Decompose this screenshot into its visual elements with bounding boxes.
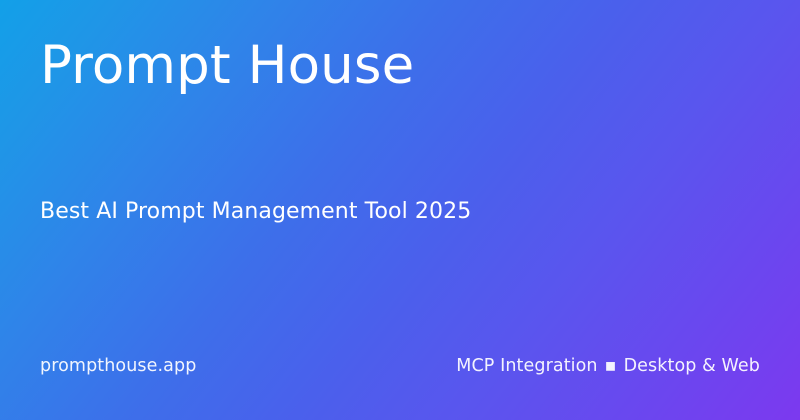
page-title: Prompt House bbox=[40, 38, 414, 94]
footer-feature-platforms: Desktop & Web bbox=[624, 355, 760, 378]
footer-website-url: prompthouse.app bbox=[40, 355, 196, 378]
page-subtitle: Best AI Prompt Management Tool 2025 bbox=[40, 198, 471, 226]
footer-features: MCP Integration ▪ Desktop & Web bbox=[456, 355, 760, 378]
promo-banner: Prompt House Best AI Prompt Management T… bbox=[0, 0, 800, 420]
footer-feature-mcp-integration: MCP Integration bbox=[456, 355, 597, 378]
title-row: Prompt House bbox=[40, 30, 760, 102]
bullet-separator-icon: ▪ bbox=[598, 355, 624, 378]
banner-footer: prompthouse.app MCP Integration ▪ Deskto… bbox=[40, 355, 760, 378]
subtitle-row: Best AI Prompt Management Tool 2025 bbox=[40, 197, 760, 227]
